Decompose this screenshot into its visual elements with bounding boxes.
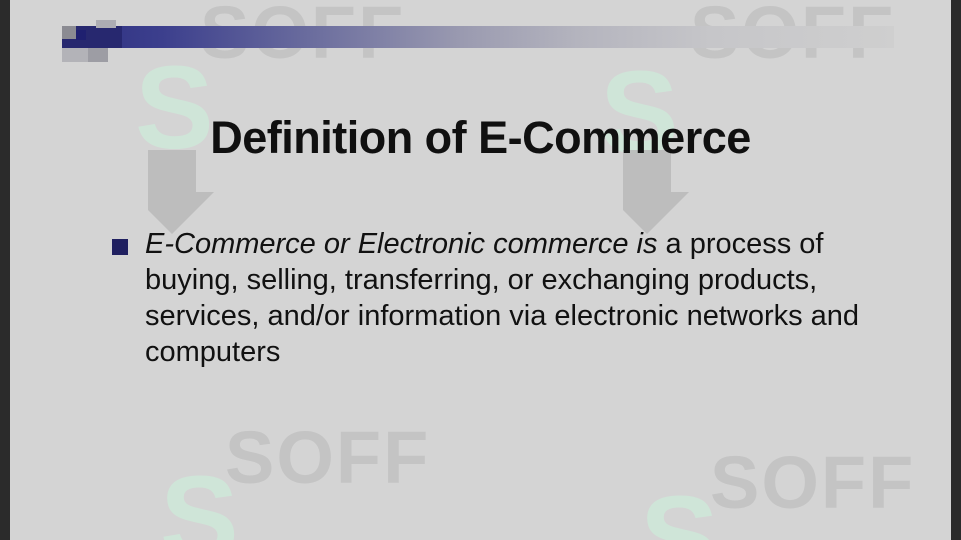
watermark-text: SOFF [710,440,915,525]
header-square-icon [62,26,76,39]
slide-right-border [951,0,961,540]
header-square-icon [96,20,116,28]
watermark-s-glyph: S [160,450,239,540]
page-title: Definition of E-Commerce [0,112,961,164]
watermark-text: SOFF [225,415,430,500]
header-square-icon [76,30,86,40]
slide-canvas: SOFF SOFF SOFF SOFF S S S S Definition o… [0,0,961,540]
header-gradient-bar [62,26,894,48]
header-square-icon [88,48,108,62]
bullet-text: E-Commerce or Electronic commerce is a p… [145,226,872,370]
list-item: E-Commerce or Electronic commerce is a p… [112,226,872,370]
watermark-s-glyph: S [640,470,719,540]
slide-body: E-Commerce or Electronic commerce is a p… [112,226,872,370]
slide-left-border [0,0,10,540]
header-square-icon [62,48,88,62]
bullet-square-icon [112,239,128,255]
bullet-emphasis-text: E-Commerce or Electronic commerce is [145,228,657,260]
